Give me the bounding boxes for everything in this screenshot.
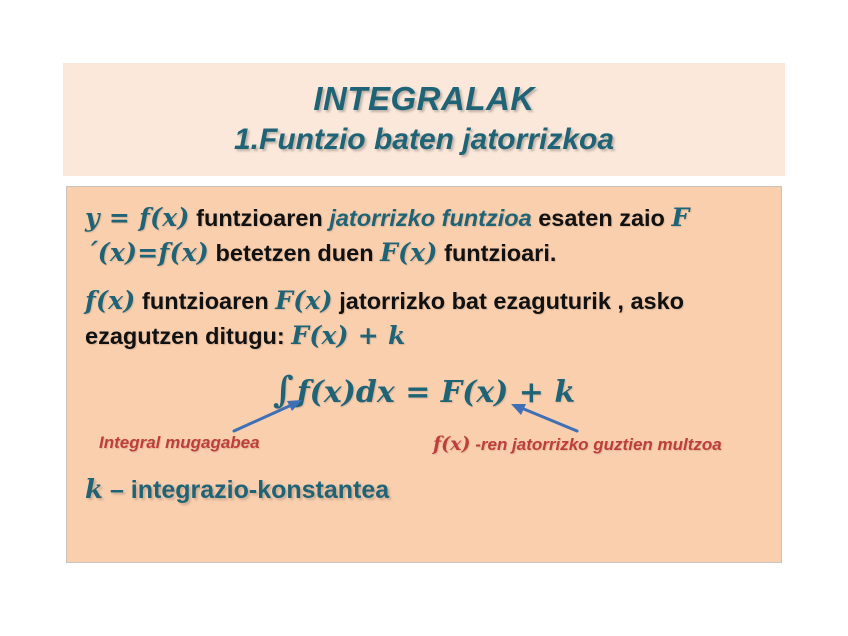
math-capital-fx-plus-k: F(x) + k: [291, 321, 405, 350]
math-fx-2: f(x): [85, 286, 136, 315]
family-paragraph: f(x) funtzioaren F(x) jatorrizko bat eza…: [85, 284, 763, 353]
annotation-integral-mugagabea: Integral mugagabea: [99, 433, 260, 453]
definition-paragraph: y = f(x) funtzioaren jatorrizko funtzioa…: [85, 201, 763, 270]
annotation-antiderivative-set: f(x) -ren jatorrizko guztien multzoa: [433, 433, 722, 455]
constant-definition-text: – integrazio-konstantea: [103, 476, 389, 504]
math-capital-fx-1: F(x): [380, 238, 438, 267]
definition-text-4: funtzioari.: [438, 240, 557, 266]
page-title: INTEGRALAK: [313, 81, 534, 117]
annotation-right-text: -ren jatorrizko guztien multzoa: [470, 435, 721, 454]
emphasis-jatorrizko-funtzioa: jatorrizko funtzioa: [329, 205, 531, 231]
indefinite-integral-formula: ∫f(x)dx = F(x) + k: [85, 369, 763, 411]
constant-definition-line: k – integrazio-konstantea: [85, 475, 763, 505]
formula-expression: f(x)dx = F(x) + k: [297, 375, 575, 410]
page-subtitle: 1.Funtzio baten jatorrizkoa: [234, 123, 614, 158]
content-panel: y = f(x) funtzioaren jatorrizko funtzioa…: [66, 186, 782, 563]
family-text-1: funtzioaren: [136, 288, 276, 314]
math-y-equals-fx: y = f(x): [85, 203, 190, 232]
math-k-symbol: k: [85, 475, 103, 505]
title-banner: INTEGRALAK 1.Funtzio baten jatorrizkoa: [63, 63, 785, 176]
definition-text-1: funtzioaren: [190, 205, 330, 231]
slide-canvas: INTEGRALAK 1.Funtzio baten jatorrizkoa y…: [0, 0, 848, 636]
formula-row: ∫f(x)dx = F(x) + k: [85, 369, 763, 415]
integral-sign-icon: ∫: [273, 369, 297, 411]
definition-text-3: betetzen duen: [209, 240, 380, 266]
annotation-math-fx: f(x): [433, 433, 470, 455]
annotations-row: Integral mugagabea f(x) -ren jatorrizko …: [85, 417, 763, 461]
math-capital-fx-2: F(x): [275, 286, 333, 315]
definition-text-2: esaten zaio: [532, 205, 672, 231]
